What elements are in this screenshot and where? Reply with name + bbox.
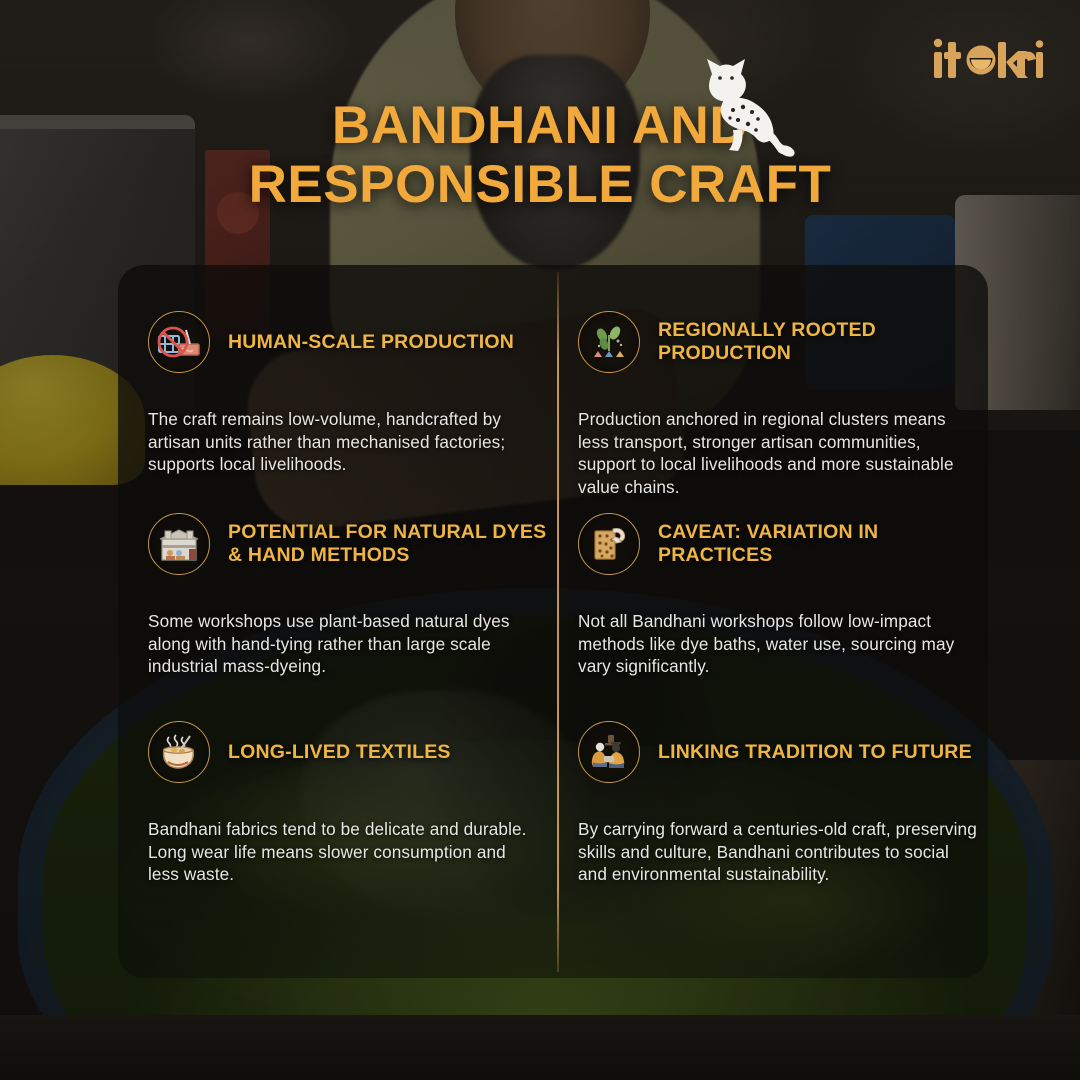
white-cat-illustration-icon bbox=[686, 52, 806, 162]
feature-card-natural-dyes-hand-methods[interactable]: POTENTIAL FOR NATURAL DYES & HAND METHOD… bbox=[148, 512, 548, 678]
feature-card-long-lived-textiles[interactable]: LONG-LIVED TEXTILES Bandhani fabrics ten… bbox=[148, 720, 548, 886]
itokri-bowl-mark bbox=[967, 46, 996, 75]
sprout-plant-icon bbox=[578, 311, 640, 373]
feature-card-regionally-rooted-production[interactable]: REGIONALLY ROOTED PRODUCTION Production … bbox=[578, 310, 978, 499]
card-header: LONG-LIVED TEXTILES bbox=[148, 720, 548, 784]
card-title: LONG-LIVED TEXTILES bbox=[228, 741, 451, 764]
no-factory-machine-icon bbox=[148, 311, 210, 373]
feature-card-caveat-variation-in-practices[interactable]: CAVEAT: VARIATION IN PRACTICES Not all B… bbox=[578, 512, 978, 678]
itokri-wordmark-icon bbox=[932, 38, 1044, 82]
card-body: Production anchored in regional clusters… bbox=[578, 408, 978, 499]
card-title: LINKING TRADITION TO FUTURE bbox=[658, 741, 972, 764]
card-title: HUMAN-SCALE PRODUCTION bbox=[228, 331, 514, 354]
card-title: POTENTIAL FOR NATURAL DYES & HAND METHOD… bbox=[228, 521, 548, 567]
card-header: CAVEAT: VARIATION IN PRACTICES bbox=[578, 512, 978, 576]
title-line-1: BANDHANI AND bbox=[90, 96, 990, 155]
card-body: Not all Bandhani workshops follow low-im… bbox=[578, 610, 978, 678]
card-body: Bandhani fabrics tend to be delicate and… bbox=[148, 818, 540, 886]
page-title: BANDHANI AND RESPONSIBLE CRAFT bbox=[0, 96, 1080, 215]
card-body: The craft remains low-volume, handcrafte… bbox=[148, 408, 540, 476]
feature-card-grid: HUMAN-SCALE PRODUCTION The craft remains… bbox=[118, 265, 988, 978]
card-header: HUMAN-SCALE PRODUCTION bbox=[148, 310, 548, 374]
card-body: By carrying forward a centuries-old craf… bbox=[578, 818, 978, 886]
card-body: Some workshops use plant-based natural d… bbox=[148, 610, 540, 678]
card-title: REGIONALLY ROOTED PRODUCTION bbox=[658, 319, 978, 365]
title-line-2: RESPONSIBLE CRAFT bbox=[90, 155, 990, 214]
steaming-dye-pot-icon bbox=[148, 721, 210, 783]
card-header: REGIONALLY ROOTED PRODUCTION bbox=[578, 310, 978, 374]
feature-card-linking-tradition-to-future[interactable]: LINKING TRADITION TO FUTURE By carrying … bbox=[578, 720, 978, 886]
card-header: POTENTIAL FOR NATURAL DYES & HAND METHOD… bbox=[148, 512, 548, 576]
two-artisans-icon bbox=[578, 721, 640, 783]
card-title: CAVEAT: VARIATION IN PRACTICES bbox=[658, 521, 978, 567]
workshop-building-icon bbox=[148, 513, 210, 575]
card-header: LINKING TRADITION TO FUTURE bbox=[578, 720, 978, 784]
feature-card-human-scale-production[interactable]: HUMAN-SCALE PRODUCTION The craft remains… bbox=[148, 310, 548, 476]
brand-logo[interactable] bbox=[932, 38, 1044, 82]
hand-holding-fabric-icon bbox=[578, 513, 640, 575]
